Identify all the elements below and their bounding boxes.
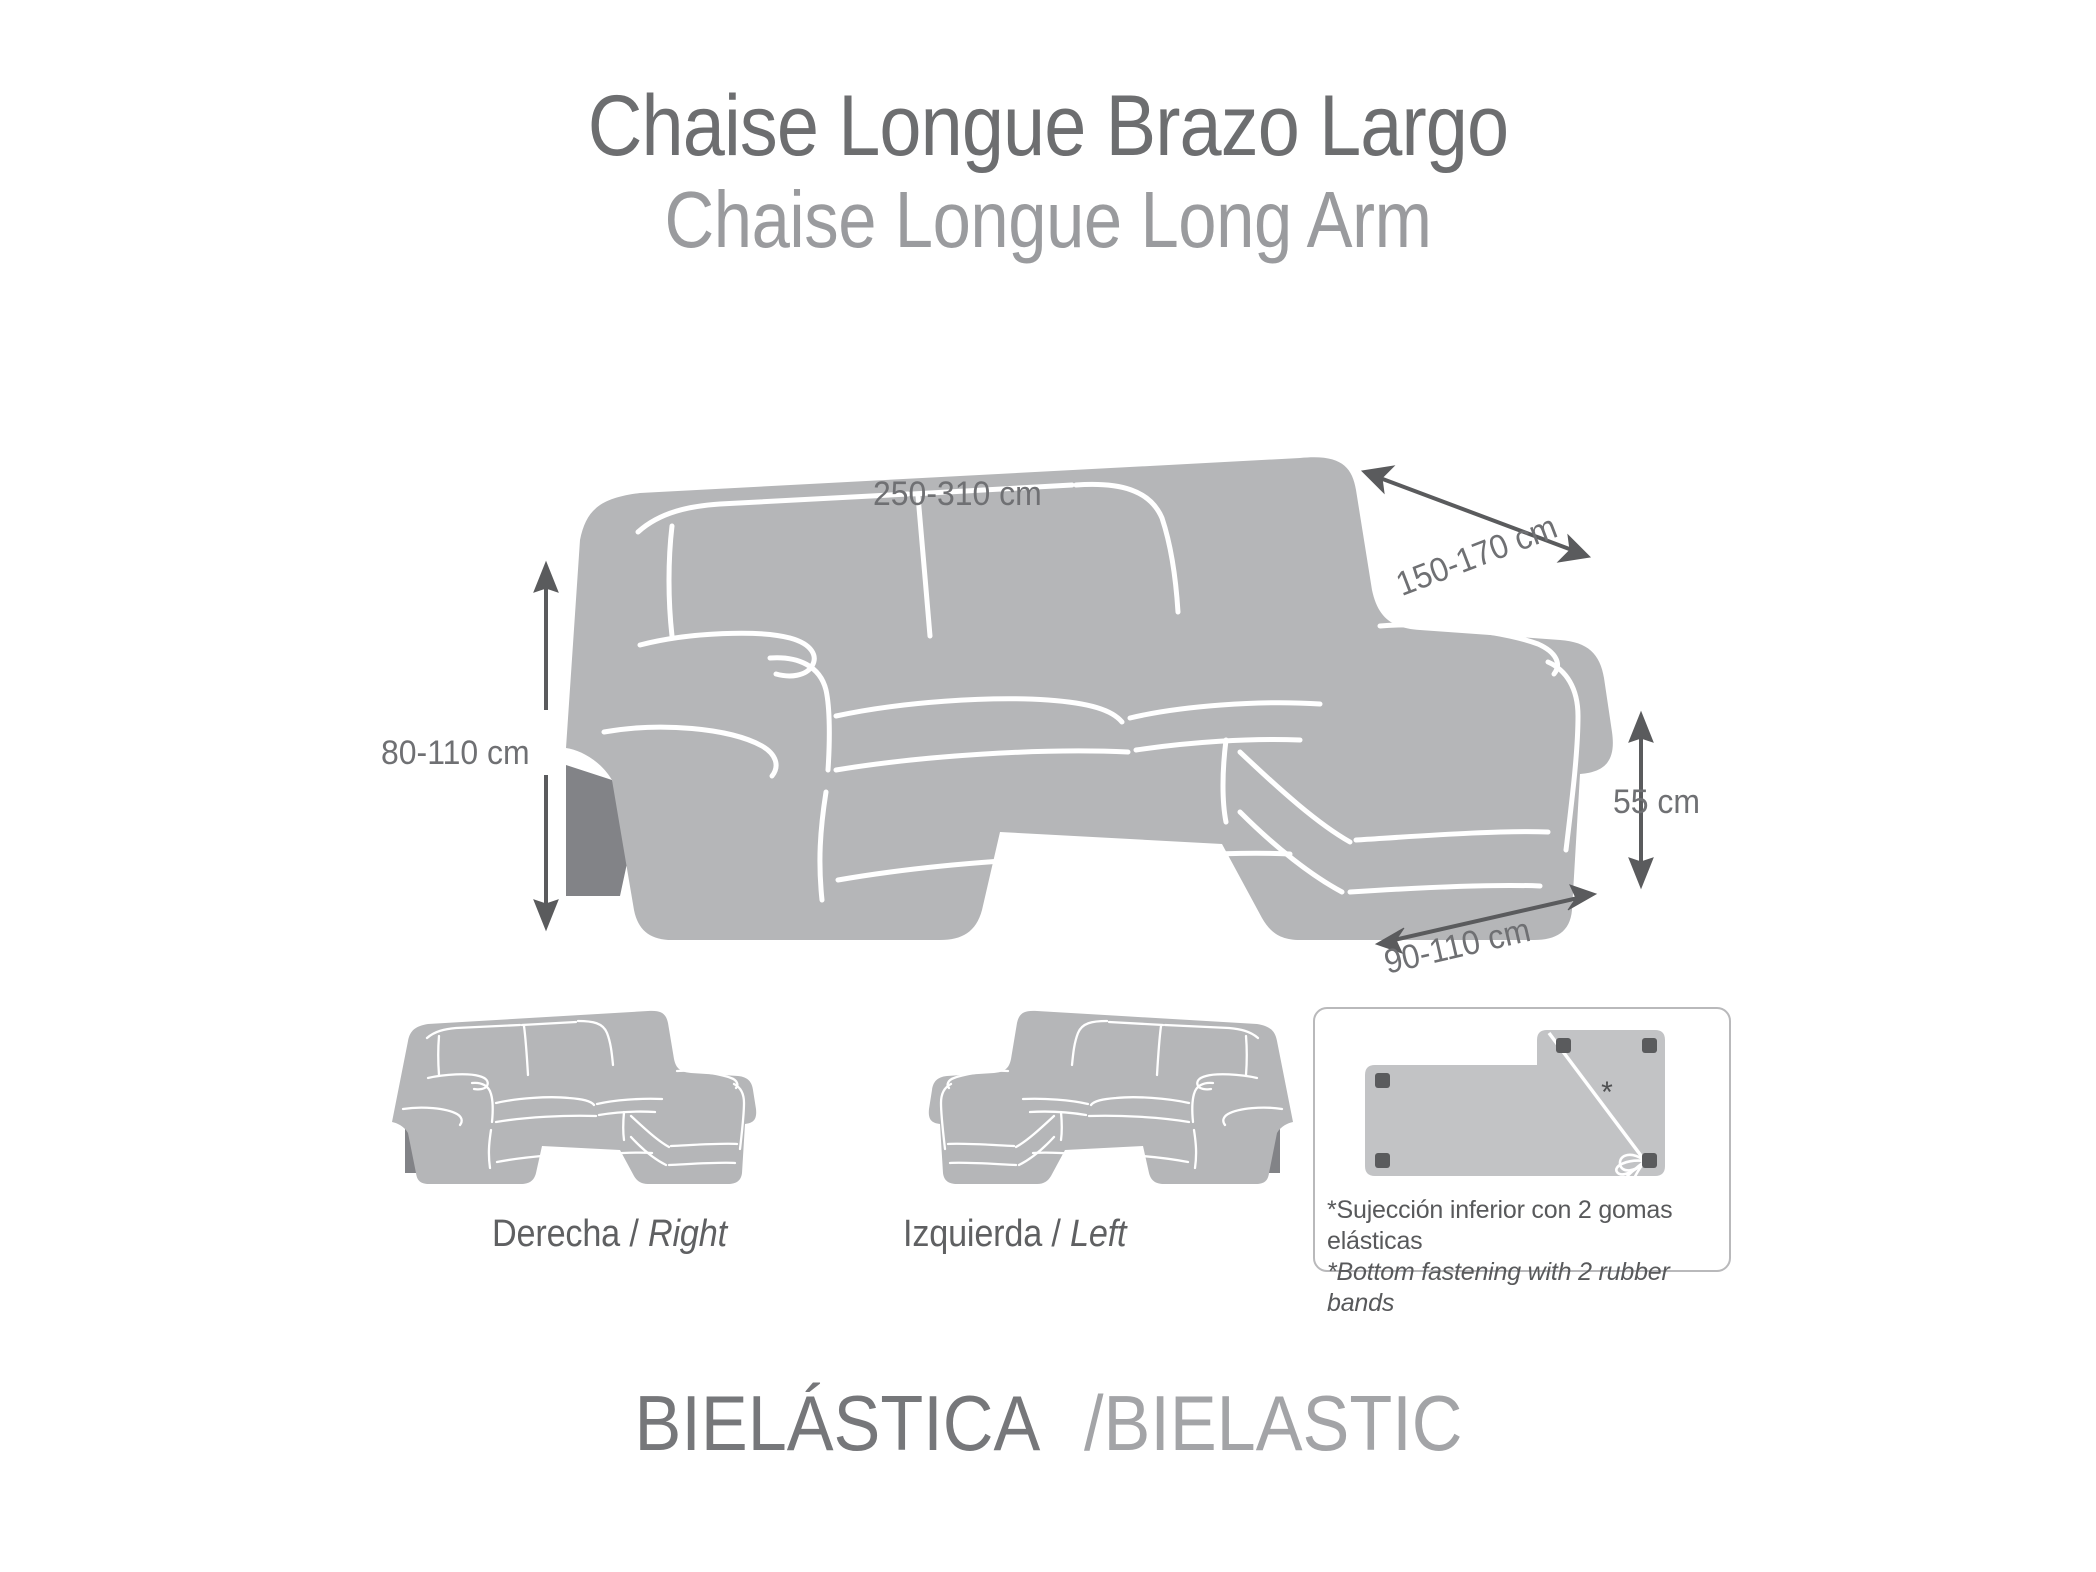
fabric-type-spanish: BIELÁSTICA [635, 1378, 1041, 1469]
corner-square-top-left [1556, 1038, 1571, 1053]
caption-right-spanish: Derecha [492, 1213, 620, 1255]
sofa-illustration-main [566, 457, 1613, 940]
footprint-shape [1365, 1030, 1665, 1176]
corner-square-bottom-left [1375, 1153, 1390, 1168]
arrow-height-left [534, 562, 558, 930]
caption-variant-left: Izquierda / Left [903, 1213, 1126, 1256]
main-sofa-diagram [0, 440, 2096, 1000]
fastening-note-spanish: *Sujección inferior con 2 gomas elástica… [1327, 1195, 1727, 1257]
fabric-type-footer: BIELÁSTICA/BIELASTIC [0, 1378, 2096, 1469]
caption-left-spanish: Izquierda [903, 1213, 1042, 1255]
caption-left-english: Left [1070, 1213, 1126, 1255]
product-spec-sheet: Chaise Longue Brazo Largo Chaise Longue … [0, 0, 2096, 1572]
asterisk-marker: * [1601, 1076, 1613, 1109]
caption-right-english: Right [648, 1213, 727, 1255]
title-english: Chaise Longue Long Arm [147, 174, 1950, 266]
variant-right-illustration [380, 1005, 840, 1205]
dimension-width-top: 250-310 cm [873, 475, 1042, 514]
footprint-diagram: * [1315, 1009, 1729, 1194]
corner-square-top-right [1642, 1038, 1657, 1053]
caption-variant-right: Derecha / Right [492, 1213, 727, 1256]
sofa-body [566, 457, 1613, 940]
fastening-note-english: *Bottom fastening with 2 rubber bands [1327, 1257, 1727, 1319]
caption-left-separator: / [1042, 1213, 1070, 1255]
title-spanish: Chaise Longue Brazo Largo [126, 78, 1970, 174]
corner-square-bottom-right [1642, 1153, 1657, 1168]
corner-square-mid-left [1375, 1073, 1390, 1088]
dimension-height-left: 80-110 cm [381, 734, 530, 773]
dimension-height-right: 55 cm [1613, 783, 1700, 822]
fastening-note: *Sujección inferior con 2 gomas elástica… [1327, 1195, 1727, 1319]
variant-left-illustration [845, 1005, 1305, 1205]
caption-right-separator: / [620, 1213, 648, 1255]
fastening-info-box: * *Sujección inferior con 2 gomas elásti… [1313, 1007, 1731, 1272]
fabric-type-english: /BIELASTIC [1084, 1378, 1462, 1469]
page-title: Chaise Longue Brazo Largo Chaise Longue … [0, 78, 2096, 266]
